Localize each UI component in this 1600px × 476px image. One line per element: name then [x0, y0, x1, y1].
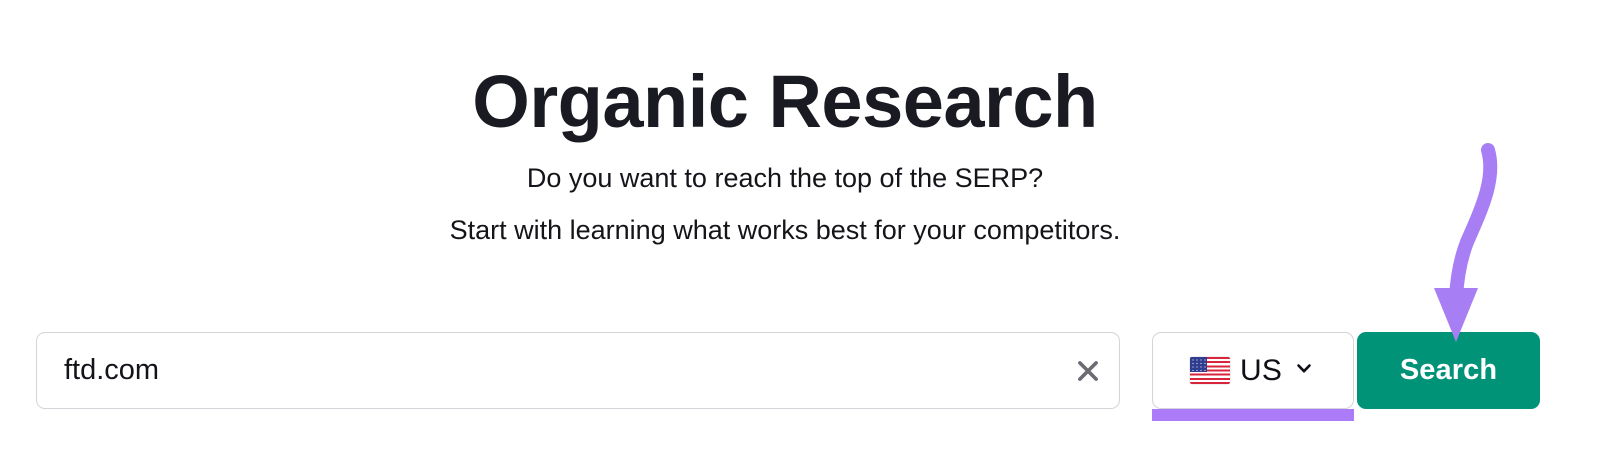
page-title: Organic Research [0, 62, 1570, 142]
domain-search-field[interactable] [36, 332, 1120, 409]
us-flag-icon [1190, 357, 1230, 384]
country-code-label: US [1240, 354, 1282, 388]
clear-input-button[interactable] [1057, 333, 1119, 408]
country-selector[interactable]: US [1152, 332, 1354, 409]
close-x-icon [1073, 356, 1103, 386]
country-selector-highlight [1152, 409, 1354, 421]
subtitle-line-2: Start with learning what works best for … [0, 204, 1570, 256]
domain-search-input[interactable] [37, 333, 1057, 408]
organic-research-page: Organic Research Do you want to reach th… [0, 0, 1600, 476]
chevron-down-icon [1292, 356, 1316, 385]
search-row: US Search [36, 332, 1540, 412]
page-subtitle: Do you want to reach the top of the SERP… [0, 152, 1570, 256]
search-button[interactable]: Search [1357, 332, 1540, 409]
subtitle-line-1: Do you want to reach the top of the SERP… [0, 152, 1570, 204]
